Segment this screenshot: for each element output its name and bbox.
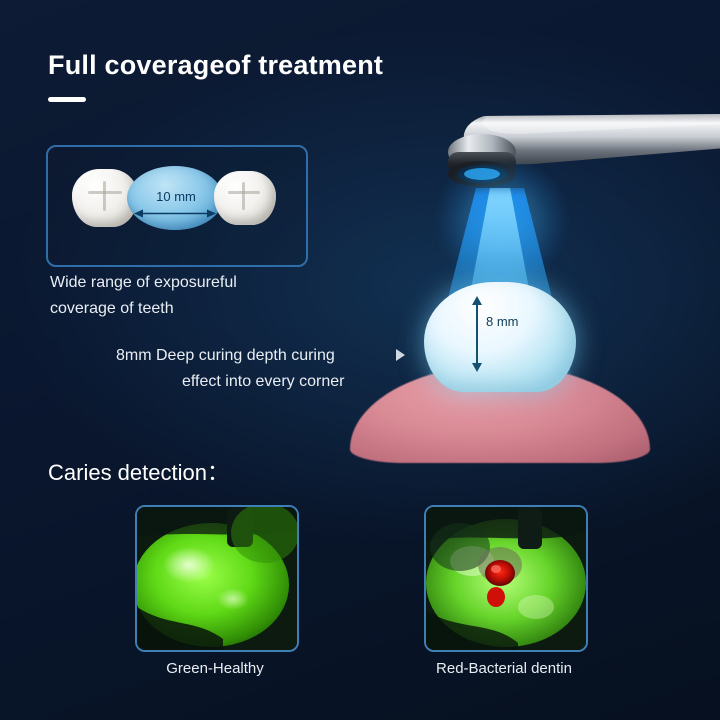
coverage-caption: Wide range of exposureful coverage of te… <box>50 270 350 322</box>
caries-photo-red-image <box>426 507 586 650</box>
deep-curing-line1: 8mm Deep curing depth curing <box>116 347 335 364</box>
teeth-coverage-panel: 10 mm <box>46 145 308 267</box>
caries-photo-green <box>135 505 299 652</box>
coverage-dimension-label: 10 mm <box>144 189 208 204</box>
caries-photo-red-caption: Red-Bacterial dentin <box>384 660 624 677</box>
caries-photo-green-caption: Green-Healthy <box>95 660 335 677</box>
curing-depth-label: 8 mm <box>486 314 519 329</box>
page-title: Full coverageof treatment <box>48 50 383 81</box>
curing-depth-arrow-icon <box>468 296 486 372</box>
curing-light-illustration: 8 mm <box>340 100 720 450</box>
caries-section-title: Caries detection： <box>48 455 229 487</box>
coverage-dimension-arrow-icon <box>134 208 216 219</box>
coverage-caption-line2: coverage of teeth <box>50 300 174 317</box>
molar-tooth-graphic <box>424 282 576 392</box>
coverage-caption-line1: Wide range of exposureful <box>50 274 237 291</box>
title-underline-rule <box>48 97 86 102</box>
caries-photo-red <box>424 505 588 652</box>
promo-image-root: Full coverageof treatment 10 mm Wide ran… <box>0 0 720 720</box>
tooth-right-graphic <box>214 171 276 225</box>
caries-photo-green-image <box>137 507 297 650</box>
